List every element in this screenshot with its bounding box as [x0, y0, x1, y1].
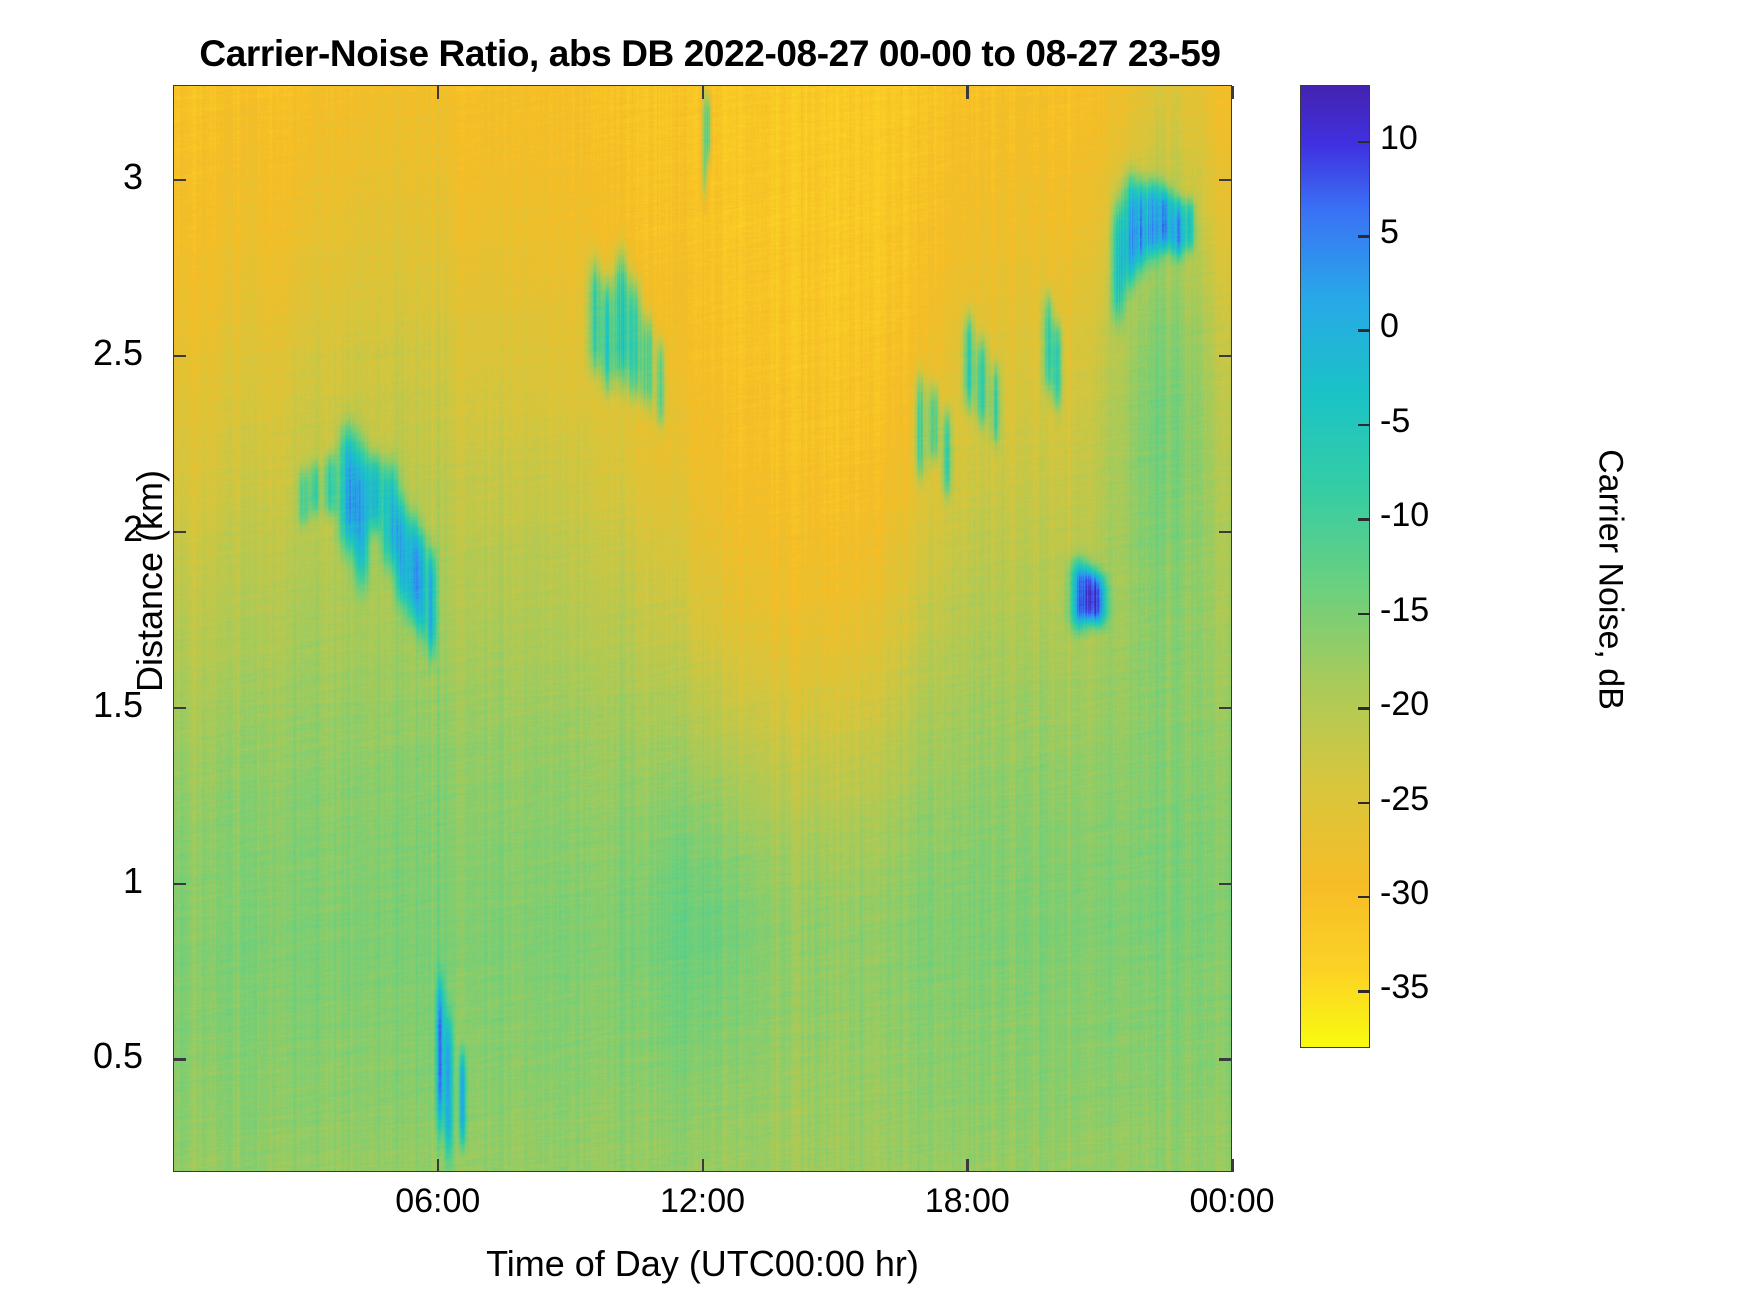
x-tick-mark-top	[1231, 86, 1234, 99]
y-tick-mark-right	[1219, 531, 1232, 534]
y-tick-label: 2	[23, 508, 143, 550]
colorbar-tick-mark	[1358, 235, 1370, 238]
x-tick-mark-top	[966, 86, 969, 99]
heatmap-canvas	[174, 86, 1231, 1171]
x-axis-label: Time of Day (UTC00:00 hr)	[173, 1243, 1232, 1285]
x-tick-label: 12:00	[603, 1182, 803, 1221]
colorbar-tick-label: 5	[1380, 213, 1470, 252]
colorbar-tick-mark	[1358, 329, 1370, 332]
colorbar[interactable]	[1300, 85, 1370, 1048]
page-title: Carrier-Noise Ratio, abs DB 2022-08-27 0…	[0, 33, 1420, 75]
y-tick-mark	[173, 1058, 186, 1061]
y-tick-mark-right	[1219, 179, 1232, 182]
x-tick-mark	[702, 1159, 705, 1172]
colorbar-tick-label: -25	[1380, 780, 1470, 819]
x-tick-label: 00:00	[1132, 1182, 1332, 1221]
y-tick-mark	[173, 531, 186, 534]
colorbar-tick-mark	[1358, 990, 1370, 993]
colorbar-gradient	[1301, 86, 1369, 1047]
x-tick-mark	[966, 1159, 969, 1172]
y-tick-mark-right	[1219, 355, 1232, 358]
x-tick-mark	[437, 1159, 440, 1172]
y-tick-mark	[173, 179, 186, 182]
y-axis-label: Distance (km)	[129, 371, 171, 791]
colorbar-tick-label: -35	[1380, 968, 1470, 1007]
y-tick-mark-right	[1219, 707, 1232, 710]
y-tick-mark-right	[1219, 1058, 1232, 1061]
colorbar-tick-mark	[1358, 896, 1370, 899]
colorbar-tick-label: -30	[1380, 874, 1470, 913]
y-tick-mark	[173, 883, 186, 886]
colorbar-tick-label: -20	[1380, 685, 1470, 724]
colorbar-tick-mark	[1358, 707, 1370, 710]
x-tick-label: 18:00	[867, 1182, 1067, 1221]
colorbar-tick-mark	[1358, 424, 1370, 427]
y-tick-label: 2.5	[23, 332, 143, 374]
y-tick-label: 3	[23, 156, 143, 198]
y-tick-mark-right	[1219, 883, 1232, 886]
heatmap-plot-area[interactable]	[173, 85, 1232, 1172]
y-tick-label: 1	[23, 860, 143, 902]
x-tick-mark-top	[702, 86, 705, 99]
colorbar-tick-label: -10	[1380, 496, 1470, 535]
colorbar-tick-label: 10	[1380, 119, 1470, 158]
colorbar-tick-mark	[1358, 802, 1370, 805]
y-tick-label: 1.5	[23, 684, 143, 726]
colorbar-tick-label: -15	[1380, 591, 1470, 630]
colorbar-tick-mark	[1358, 518, 1370, 521]
colorbar-tick-label: 0	[1380, 307, 1470, 346]
colorbar-tick-mark	[1358, 141, 1370, 144]
figure-root: Carrier-Noise Ratio, abs DB 2022-08-27 0…	[0, 0, 1750, 1313]
x-tick-mark-top	[437, 86, 440, 99]
x-tick-label: 06:00	[338, 1182, 538, 1221]
colorbar-label: Carrier Noise, dB	[1591, 380, 1630, 780]
y-tick-mark	[173, 707, 186, 710]
colorbar-tick-label: -5	[1380, 402, 1470, 441]
colorbar-tick-mark	[1358, 613, 1370, 616]
y-tick-label: 0.5	[23, 1035, 143, 1077]
y-tick-mark	[173, 355, 186, 358]
x-tick-mark	[1231, 1159, 1234, 1172]
